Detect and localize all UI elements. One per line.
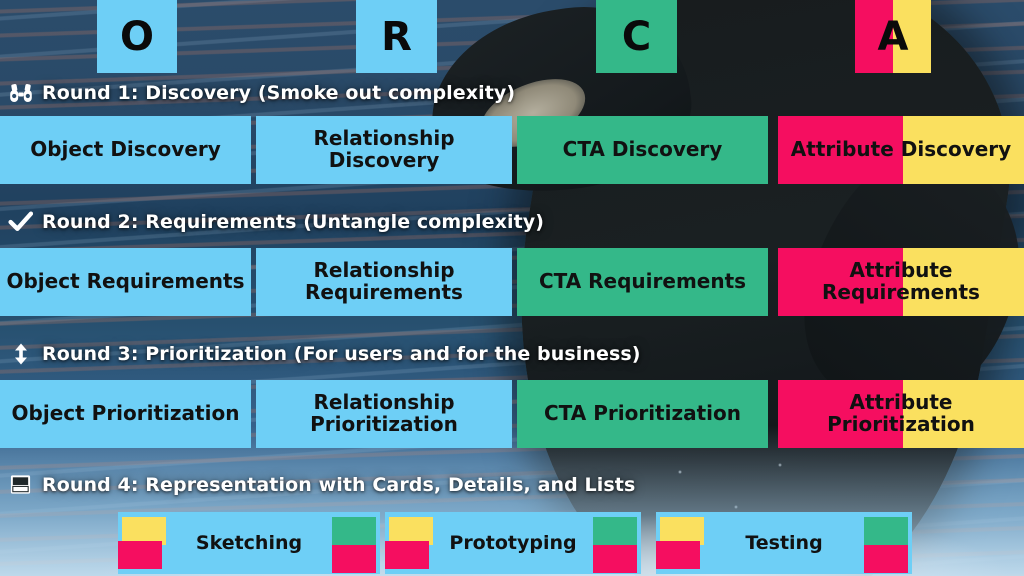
swatch-pink (593, 545, 637, 573)
swatch-pink (656, 541, 700, 569)
cell-cta-requirements[interactable]: CTA Requirements (517, 248, 768, 316)
round-4-title: Round 4: Representation with Cards, Deta… (42, 474, 635, 496)
acronym-letter-c: C (596, 0, 677, 73)
prototyping-swatch-left (385, 515, 437, 571)
swatch-pink (118, 541, 162, 569)
chip-testing-label: Testing (708, 532, 860, 554)
cell-attribute-requirements[interactable]: Attribute Requirements (778, 248, 1024, 316)
sketching-swatch-left (118, 515, 170, 571)
round-2-header: Round 2: Requirements (Untangle complexi… (8, 209, 544, 234)
acronym-letter-r: R (356, 0, 437, 73)
cell-object-requirements[interactable]: Object Requirements (0, 248, 251, 316)
swatch-green (332, 517, 376, 545)
acronym-letter-o: O (97, 0, 177, 73)
round-3-title: Round 3: Prioritization (For users and f… (42, 343, 641, 365)
swatch-green (593, 517, 637, 545)
round-3-header: Round 3: Prioritization (For users and f… (8, 341, 641, 366)
swatch-pink (385, 541, 429, 569)
cell-cta-prioritization[interactable]: CTA Prioritization (517, 380, 768, 448)
chip-sketching-label: Sketching (170, 532, 328, 554)
chip-sketching[interactable]: Sketching (118, 512, 380, 574)
orca-framework-slide: O R C A Round 1: Discovery (Smo (0, 0, 1024, 576)
chip-prototyping[interactable]: Prototyping (385, 512, 641, 574)
cell-attribute-prioritization[interactable]: Attribute Prioritization (778, 380, 1024, 448)
binoculars-icon (8, 80, 33, 105)
round-2-title: Round 2: Requirements (Untangle complexi… (42, 211, 544, 233)
cell-object-discovery[interactable]: Object Discovery (0, 116, 251, 184)
cell-attribute-discovery[interactable]: Attribute Discovery (778, 116, 1024, 184)
cell-cta-discovery[interactable]: CTA Discovery (517, 116, 768, 184)
swatch-pink (864, 545, 908, 573)
prototyping-swatch-right (589, 515, 641, 571)
checkmark-icon (8, 209, 33, 234)
round-1-title: Round 1: Discovery (Smoke out complexity… (42, 82, 515, 104)
swatch-pink (332, 545, 376, 573)
cell-relationship-prioritization[interactable]: Relationship Prioritization (256, 380, 512, 448)
acronym-letter-a: A (855, 0, 931, 73)
swatch-green (864, 517, 908, 545)
testing-swatch-left (656, 515, 708, 571)
round-1-header: Round 1: Discovery (Smoke out complexity… (8, 80, 515, 105)
chip-prototyping-label: Prototyping (437, 532, 589, 554)
cell-relationship-requirements[interactable]: Relationship Requirements (256, 248, 512, 316)
cell-object-prioritization[interactable]: Object Prioritization (0, 380, 251, 448)
up-down-arrow-icon (8, 341, 33, 366)
card-layout-icon (8, 472, 33, 497)
round-4-header: Round 4: Representation with Cards, Deta… (8, 472, 635, 497)
sketching-swatch-right (328, 515, 380, 571)
chip-testing[interactable]: Testing (656, 512, 912, 574)
cell-relationship-discovery[interactable]: Relationship Discovery (256, 116, 512, 184)
testing-swatch-right (860, 515, 912, 571)
